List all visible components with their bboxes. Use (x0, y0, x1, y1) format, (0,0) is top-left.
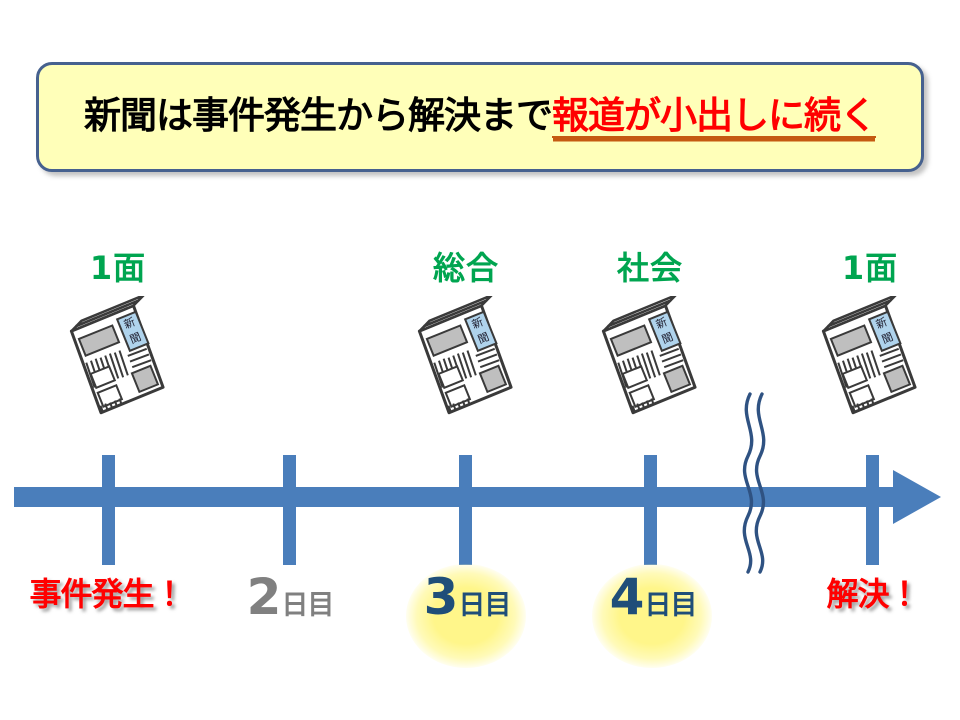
day-label-day4: 4日目 (538, 572, 768, 622)
title-text: 新聞は事件発生から解決まで報道が小出しに続く (84, 97, 876, 138)
timeline-tick-resolution (866, 455, 879, 565)
day-number: 2 (247, 568, 282, 626)
day-unit: 日目 (644, 590, 696, 621)
day-unit: 日目 (458, 590, 510, 621)
slide-canvas: 新聞は事件発生から解決まで報道が小出しに続く 1面 新 聞 (0, 0, 960, 720)
newspaper-icon: 新 聞 (810, 296, 930, 416)
time-break-squiggle-icon (728, 392, 788, 574)
day-number: 3 (424, 568, 459, 626)
timeline-tick-day4 (644, 455, 657, 565)
paper-section-label: 総合 (396, 252, 536, 290)
event-label-text: 事件発生！ (29, 575, 184, 613)
newspaper-icon: 新 聞 (58, 296, 178, 416)
paper-group-day4[interactable]: 社会 新 聞 (580, 252, 720, 416)
newspaper-icon: 新 聞 (406, 296, 526, 416)
timeline-tick-day3 (459, 455, 472, 565)
day-label-event-resolution: 解決！ (758, 578, 960, 610)
timeline-tick-day1 (102, 455, 115, 565)
paper-group-resolution[interactable]: 1面 新 聞 (800, 252, 940, 416)
paper-section-label: 1面 (48, 252, 188, 290)
paper-section-label: 1面 (800, 252, 940, 290)
paper-group-day1[interactable]: 1面 新 聞 (48, 252, 188, 416)
title-banner: 新聞は事件発生から解決まで報道が小出しに続く (36, 62, 924, 172)
newspaper-icon: 新 聞 (590, 296, 710, 416)
title-text-red-underlined: 報道が小出しに続く (552, 97, 876, 138)
timeline-tick-day2 (283, 455, 296, 565)
day-number: 4 (610, 568, 645, 626)
title-text-black: 新聞は事件発生から解決まで (84, 97, 552, 134)
day-unit: 日目 (281, 590, 333, 621)
timeline-arrow-head-icon (893, 470, 941, 524)
paper-section-label: 社会 (580, 252, 720, 290)
event-label-text: 解決！ (826, 575, 919, 613)
paper-group-day3[interactable]: 総合 新 聞 (396, 252, 536, 416)
